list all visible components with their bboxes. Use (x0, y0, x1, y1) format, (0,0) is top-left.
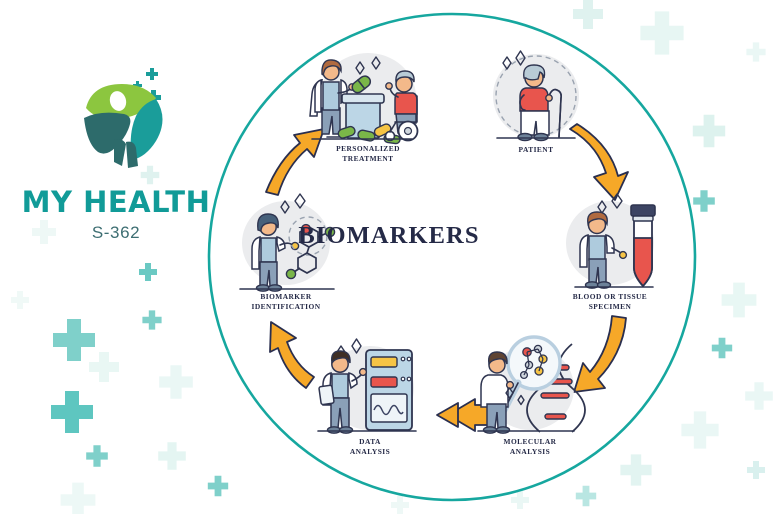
step-label-patient: PATIENT (461, 145, 611, 155)
illustration-personalized-treatment (310, 53, 418, 144)
illustration-data-analysis (318, 339, 416, 433)
brand-name: MY HEALTH (18, 188, 214, 217)
illustration-patient (493, 51, 579, 141)
infographic-canvas: .bg{fill:#ebecee} .ol{fill:none;stroke:#… (0, 0, 778, 514)
person-leaf-logo-icon (56, 62, 176, 182)
brand-code: S-362 (18, 224, 214, 241)
step-label-molecular-analysis: MOLECULAR ANALYSIS (455, 437, 605, 457)
illustration-molecular-analysis (478, 337, 585, 433)
step-label-biomarker-identification: BIOMARKER IDENTIFICATION (211, 292, 361, 312)
brand-logo-block: MY HEALTH S-362 (18, 62, 214, 241)
step-label-personalized-treatment: PERSONALIZED TREATMENT (293, 144, 443, 164)
step-label-blood-specimen: BLOOD OR TISSUE SPECIMEN (535, 292, 685, 312)
step-label-data-analysis: DATA ANALYSIS (295, 437, 445, 457)
